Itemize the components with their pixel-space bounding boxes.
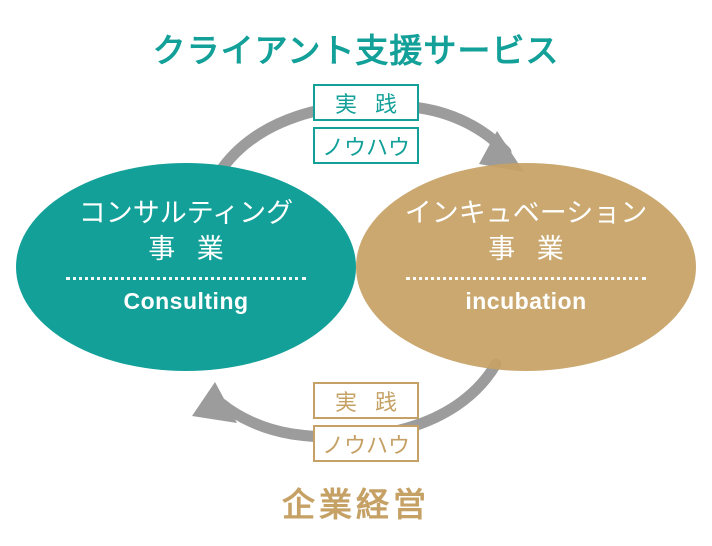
lobe-consulting[interactable] (16, 163, 356, 371)
label-top-jissen[interactable]: 実 践 (313, 84, 419, 121)
lobe-incubation[interactable] (356, 163, 696, 371)
diagram-canvas: クライアント支援サービス コンサルティング 事 業 Consulting インキ… (0, 0, 712, 546)
page-title-bottom: 企業経営 (0, 478, 712, 526)
label-top-knowhow[interactable]: ノウハウ (313, 127, 419, 164)
label-bottom-knowhow[interactable]: ノウハウ (313, 425, 419, 462)
diagram-vector-layer (0, 0, 712, 546)
label-bottom-jissen[interactable]: 実 践 (313, 382, 419, 419)
